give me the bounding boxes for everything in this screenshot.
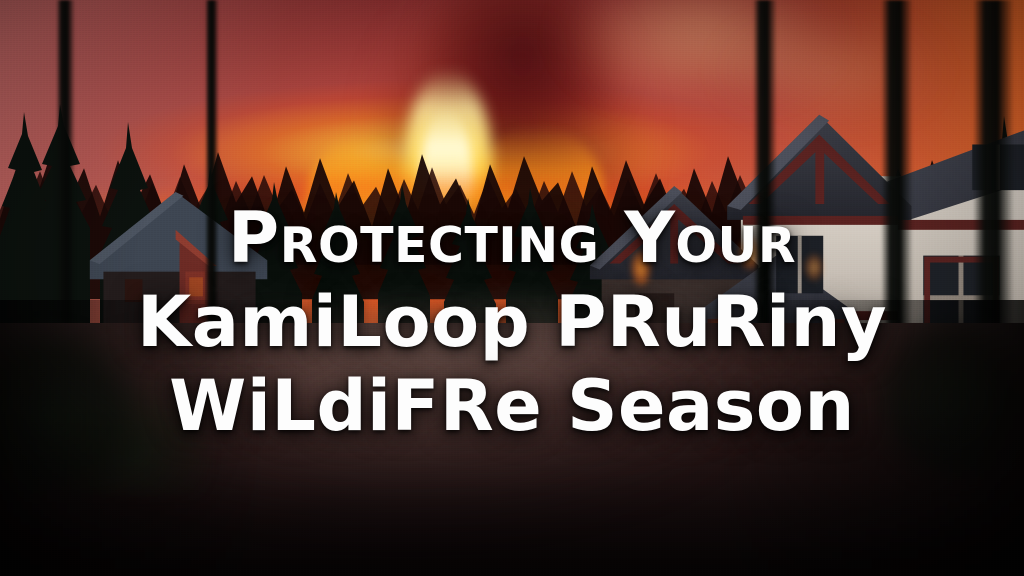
- banner-image: Protecting Your KamiLoop PRuRiny WiLdiFR…: [0, 0, 1024, 576]
- ground-shadow: [0, 300, 1024, 576]
- window-glow-left: [630, 248, 653, 288]
